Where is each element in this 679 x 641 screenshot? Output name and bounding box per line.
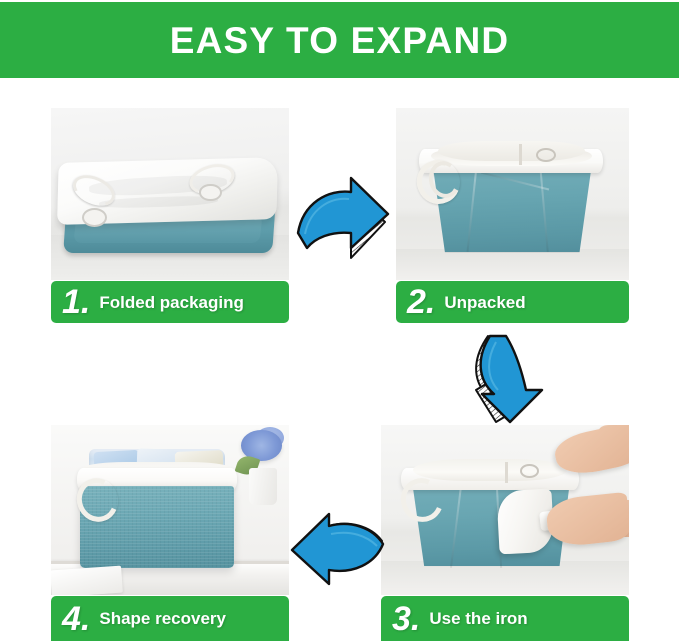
photo4-book: [51, 565, 123, 595]
step-number-3: 3.: [392, 602, 420, 636]
photo-unpacked-basket: [396, 108, 629, 280]
step-number-2: 2.: [407, 285, 435, 319]
photo1-eyelet-right: [199, 184, 222, 202]
step-label-3: 3. Use the iron: [381, 596, 629, 641]
photo3-inner-divider: [505, 462, 508, 482]
arrow-right-icon: [293, 176, 393, 264]
photo3-canvas-liner: [413, 459, 567, 481]
photo2-canvas-liner: [438, 141, 585, 162]
step-photo-3: [381, 425, 629, 595]
photo2-table-surface: [396, 249, 629, 280]
step-label-4: 4. Shape recovery: [51, 596, 289, 641]
step-label-2: 2. Unpacked: [396, 281, 629, 323]
photo-use-the-iron: [381, 425, 629, 595]
page-title: EASY TO EXPAND: [170, 22, 510, 59]
step-photo-1: [51, 108, 289, 280]
photo4-vase: [249, 468, 278, 505]
step-photo-2: [396, 108, 629, 280]
step-text-4: Shape recovery: [99, 610, 226, 627]
photo-folded-packaging: [51, 108, 289, 280]
step-number-4: 4.: [62, 602, 90, 636]
photo-shape-recovery: [51, 425, 289, 595]
step-text-2: Unpacked: [444, 294, 525, 311]
step-number-1: 1.: [62, 285, 90, 319]
step-label-1: 1. Folded packaging: [51, 281, 289, 323]
photo2-metal-ring: [536, 148, 556, 162]
photo3-metal-ring: [520, 464, 539, 478]
step-text-3: Use the iron: [429, 610, 527, 627]
arrow-down-icon: [462, 332, 554, 424]
photo2-inner-divider: [519, 144, 522, 165]
header-banner: EASY TO EXPAND: [0, 2, 679, 78]
arrow-left-icon: [287, 508, 387, 590]
photo3-table-surface: [381, 561, 629, 595]
step-photo-4: [51, 425, 289, 595]
infographic-root: EASY TO EXPAND 1. Folded packaging: [0, 0, 679, 641]
step-text-1: Folded packaging: [99, 294, 244, 311]
